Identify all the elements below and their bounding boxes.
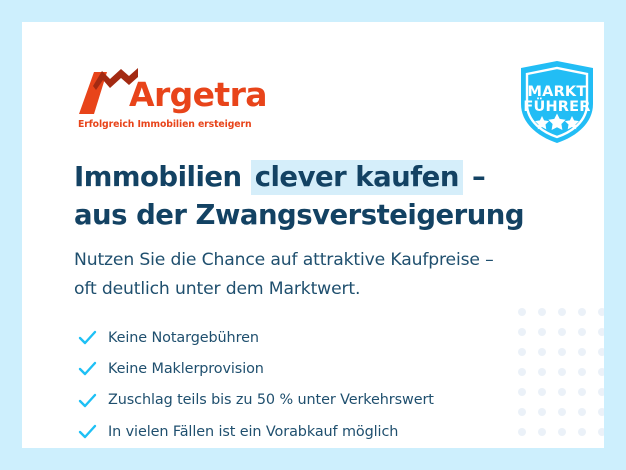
- decoration-dot: [558, 408, 566, 416]
- logo-wordmark: Argetra: [129, 78, 267, 111]
- decoration-dot: [558, 428, 566, 436]
- subtitle-line1: Nutzen Sie die Chance auf attraktive Kau…: [74, 250, 494, 270]
- decoration-dot: [578, 408, 586, 416]
- headline-highlight: clever kaufen: [251, 160, 463, 195]
- decoration-dot: [558, 388, 566, 396]
- decoration-dot: [538, 308, 546, 316]
- subtitle: Nutzen Sie die Chance auf attraktive Kau…: [74, 246, 554, 304]
- list-item: Keine Notargebühren: [77, 322, 547, 353]
- decoration-dot: [578, 368, 586, 376]
- check-icon: [77, 390, 98, 411]
- headline-line1: Immobilien clever kaufen –: [74, 160, 485, 195]
- decoration-dot: [598, 368, 604, 376]
- list-item: Zuschlag teils bis zu 50 % unter Verkehr…: [77, 385, 547, 416]
- decoration-dot: [558, 348, 566, 356]
- check-icon: [77, 421, 98, 442]
- content-card: Argetra Erfolgreich Immobilien ersteiger…: [22, 22, 604, 448]
- headline-line2: aus der Zwangsversteigerung: [74, 199, 524, 231]
- decoration-dot: [598, 388, 604, 396]
- decoration-dot: [578, 348, 586, 356]
- argetra-logo[interactable]: Argetra Erfolgreich Immobilien ersteiger…: [77, 64, 277, 132]
- benefit-list: Keine Notargebühren Keine Maklerprovisio…: [77, 322, 547, 447]
- list-item-label: Keine Notargebühren: [108, 330, 259, 346]
- decoration-dot: [578, 428, 586, 436]
- logo-tagline: Erfolgreich Immobilien ersteigern: [78, 119, 251, 130]
- decoration-dot: [558, 368, 566, 376]
- list-item-label: Keine Maklerprovision: [108, 361, 264, 377]
- check-icon: [77, 358, 98, 379]
- shield-badge-icon: MARKT FÜHRER: [511, 58, 603, 146]
- subtitle-line2: oft deutlich unter dem Marktwert.: [74, 279, 360, 299]
- badge-line1: MARKT: [528, 84, 587, 100]
- headline-post: –: [463, 161, 485, 193]
- decoration-dot: [598, 428, 604, 436]
- logo-row: Argetra: [77, 64, 277, 114]
- promo-banner: Argetra Erfolgreich Immobilien ersteiger…: [0, 0, 626, 470]
- decoration-dot: [598, 348, 604, 356]
- list-item: In vielen Fällen ist ein Vorabkauf mögli…: [77, 416, 547, 447]
- decoration-dot: [518, 308, 526, 316]
- page-title: Immobilien clever kaufen – aus der Zwang…: [74, 158, 544, 234]
- list-item: Keine Maklerprovision: [77, 353, 547, 384]
- decoration-dot: [598, 408, 604, 416]
- headline-pre: Immobilien: [74, 161, 251, 193]
- decoration-dot: [558, 308, 566, 316]
- decoration-dot: [578, 388, 586, 396]
- list-item-label: Zuschlag teils bis zu 50 % unter Verkehr…: [108, 392, 434, 408]
- decoration-dot: [598, 328, 604, 336]
- decoration-dot: [578, 308, 586, 316]
- decoration-dot: [598, 308, 604, 316]
- check-icon: [77, 327, 98, 348]
- decoration-dot: [578, 328, 586, 336]
- badge-line2: FÜHRER: [523, 97, 590, 115]
- decoration-dot: [558, 328, 566, 336]
- list-item-label: In vielen Fällen ist ein Vorabkauf mögli…: [108, 424, 398, 440]
